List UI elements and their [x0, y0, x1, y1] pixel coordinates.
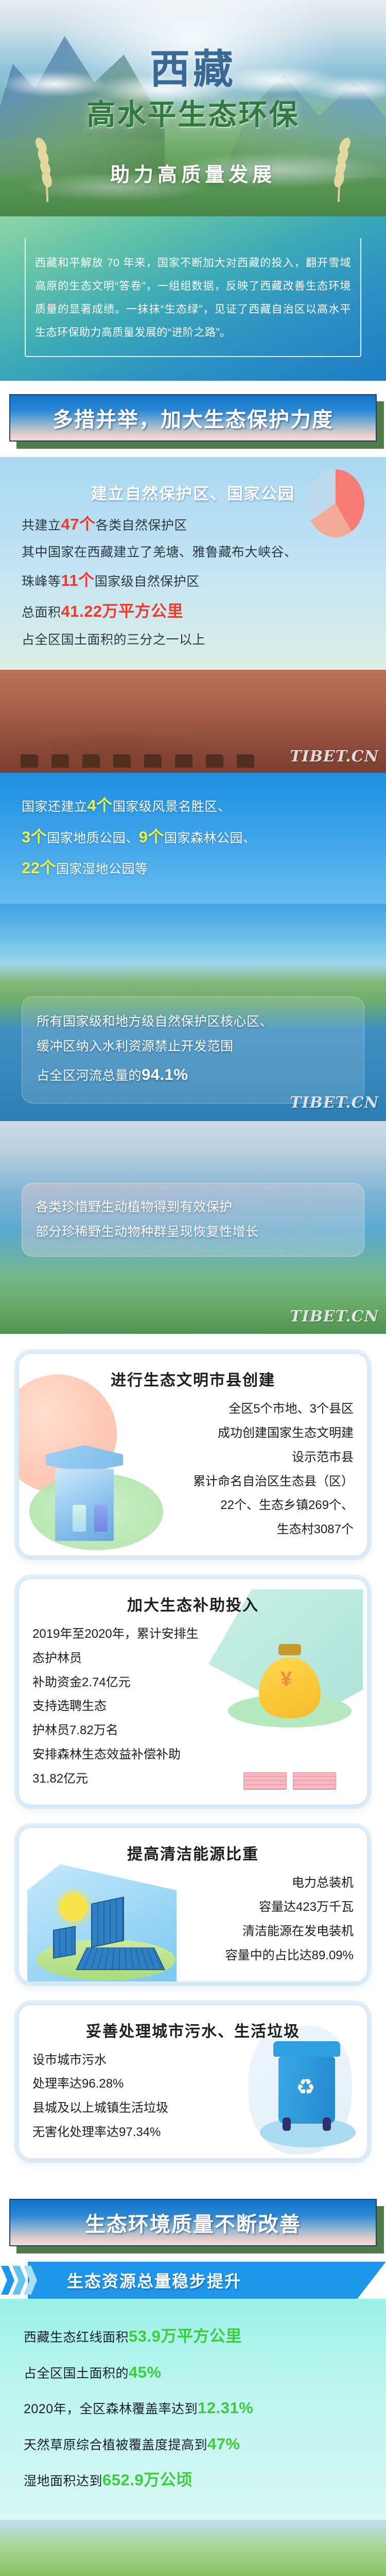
eco-res-line-3: 2020年，全区森林覆盖率达到12.31% [24, 2390, 362, 2426]
eco-res-l5-num: 652.9万公顷 [102, 2471, 192, 2489]
eco-res-l1-pre: 西藏生态红线面积 [24, 2330, 129, 2345]
parks-line-3: 22个国家湿地公园等 [22, 853, 364, 884]
card-line: 全区5个市地、3个县区 [179, 1397, 354, 1421]
rivers-card: 所有国家级和地方级自然保护区核心区、 缓冲区纳入水利资源禁止开发范围 占全区河流… [22, 996, 364, 1104]
intro-paragraph: 西藏和平解放 70 年来，国家不断加大对西藏的投入，翻开雪域高原的生态文明“答卷… [35, 251, 351, 345]
wildlife-line-2: 部分珍稀野生动物种群呈现恢复性增长 [36, 1219, 350, 1245]
reserves-l3-post: 国家级自然保护区 [95, 574, 200, 589]
reserves-l3-num: 11个 [61, 571, 95, 589]
infographic-page: 西藏 高水平生态环保 助力高质量发展 西藏和平解放 70 年来，国家不断加大对西… [0, 0, 386, 2576]
card-line: 累计命名自治区生态县（区） [179, 1470, 354, 1494]
reserves-line-3: 珠峰等11个国家级自然保护区 [22, 565, 364, 596]
sub-banner-label: 生态资源总量稳步提升 [67, 2262, 242, 2299]
card-line: 设市城市污水 [32, 2048, 207, 2073]
section1-banner-wrap: 多措并举，加大生态保护力度 [0, 381, 386, 457]
eco-res-l2-pre: 占全区国土面积的 [24, 2366, 129, 2381]
kiang-icon [144, 754, 162, 768]
wildlife-band: 各类珍惜野生动植物得到有效保护 部分珍稀野生动物种群呈现恢复性增长 TIBET.… [0, 1121, 386, 1334]
sub-banner-eco-resources: 生态资源总量稳步提升 [0, 2262, 386, 2299]
parks-l1-post: 国家级风景名胜区、 [113, 800, 231, 814]
wildlife-stats: 各类珍惜野生动植物得到有效保护 部分珍稀野生动物种群呈现恢复性增长 [36, 1195, 350, 1245]
reserves-line-1: 共建立47个各类自然保护区 [22, 509, 364, 540]
eco-res-l2-num: 45% [129, 2363, 162, 2381]
card-title: 妥善处理城市污水、生活垃圾 [19, 2005, 367, 2048]
section1-banner: 多措并举，加大生态保护力度 [9, 394, 377, 442]
card-line: 补助资金2.74亿元 [32, 1671, 207, 1695]
eco-res-l4-num: 47% [207, 2435, 240, 2453]
watermark: TIBET.CN [290, 748, 379, 766]
reserves-band: 建立自然保护区、国家公园 共建立47个各类自然保护区 其中国家在西藏建立了羌塘、… [0, 457, 386, 670]
rivers-line-3: 占全区河流总量的94.1% [37, 1059, 349, 1090]
card-line: 处理率达96.28% [32, 2072, 207, 2096]
village-photo-band: TIBET.CN [0, 2520, 386, 2576]
national-parks-stats: 国家还建立4个国家级风景名胜区、 3个国家地质公园、9个国家森林公园、 22个国… [22, 790, 364, 884]
reserves-l3-pre: 珠峰等 [22, 574, 61, 589]
card-eco-subsidy: ¥ 加大生态补助投入 2019年至2020年，累计安排生态护林员 补助资金2.7… [17, 1578, 369, 1806]
card-line: 支持选聘生态 [32, 1694, 207, 1719]
rivers-line-1: 所有国家级和地方级自然保护区核心区、 [37, 1009, 349, 1035]
card-body: 全区5个市地、3个县区 成功创建国家生态文明建 设示范市县 累计命名自治区生态县… [19, 1397, 367, 1555]
reserves-l1-pre: 共建立 [22, 518, 61, 533]
card-line: 县城及以上城镇生活垃圾 [32, 2096, 207, 2121]
card-line: 护林员7.82万名 [32, 1719, 207, 1743]
rivers-l3-pre: 占全区河流总量的 [37, 1069, 142, 1083]
hero-subtitle: 高水平生态环保 [0, 92, 386, 133]
parks-l3-post: 国家湿地公园等 [56, 862, 148, 876]
kiang-icon [82, 754, 100, 768]
card-line: 成功创建国家生态文明建 [179, 1421, 354, 1446]
parks-l1-num: 4个 [87, 796, 113, 815]
chevron-right-icon [1, 2266, 14, 2295]
watermark: TIBET.CN [290, 1094, 379, 1112]
card-line: 设示范市县 [179, 1446, 354, 1470]
kiang-icon [113, 754, 131, 768]
eco-res-l3-pre: 2020年，全区森林覆盖率达到 [24, 2402, 198, 2416]
eco-res-l3-num: 12.31% [198, 2399, 253, 2417]
wildlife-line-1: 各类珍惜野生动植物得到有效保护 [36, 1195, 350, 1220]
eco-res-line-1: 西藏生态红线面积53.9万平方公里 [24, 2318, 362, 2354]
rivers-stats: 所有国家级和地方级自然保护区核心区、 缓冲区纳入水利资源禁止开发范围 占全区河流… [37, 1009, 349, 1091]
eco-res-l4-pre: 天然草原综合植被覆盖度提高到 [24, 2438, 207, 2452]
hero-title: 西藏 [0, 37, 386, 95]
card-line: 电力总装机 [179, 1871, 354, 1895]
eco-res-line-2: 占全区国土面积的45% [24, 2354, 362, 2391]
reserves-l1-post: 各类自然保护区 [96, 518, 188, 533]
reserves-l1-num: 47个 [61, 515, 96, 533]
card-line: 22个、生态乡镇269个、 [179, 1494, 354, 1518]
rivers-line-2: 缓冲区纳入水利资源禁止开发范围 [37, 1034, 349, 1059]
reserves-stats: 共建立47个各类自然保护区 其中国家在西藏建立了羌塘、雅鲁藏布大峡谷、 珠峰等1… [22, 509, 364, 653]
eco-resources-stats: 西藏生态红线面积53.9万平方公里 占全区国土面积的45% 2020年，全区森林… [24, 2318, 362, 2498]
reserves-line-4: 总面积41.22万平方公里 [22, 596, 364, 627]
parks-line-2: 3个国家地质公园、9个国家森林公园、 [22, 822, 364, 853]
reserves-l4-pre: 总面积 [22, 605, 61, 620]
intro-frame: 西藏和平解放 70 年来，国家不断加大对西藏的投入，翻开雪域高原的生态文明“答卷… [25, 238, 361, 357]
card-title: 加大生态补助投入 [19, 1579, 367, 1622]
eco-res-line-4: 天然草原综合植被覆盖度提高到47% [24, 2426, 362, 2462]
kiang-icon [206, 754, 223, 768]
eco-resources-band: 西藏生态红线面积53.9万平方公里 占全区国土面积的45% 2020年，全区森林… [0, 2299, 386, 2520]
rivers-l3-num: 94.1% [142, 1065, 188, 1083]
eco-res-line-5: 湿地面积达到652.9万公顷 [24, 2462, 362, 2498]
card-line: 生态村3087个 [179, 1518, 354, 1542]
card-waste-treatment: ♻ 妥善处理城市污水、生活垃圾 设市城市污水 处理率达96.28% 县城及以上城… [17, 2004, 369, 2160]
eco-res-l5-pre: 湿地面积达到 [24, 2474, 102, 2488]
watermark: TIBET.CN [290, 1308, 379, 1326]
card-body: 设市城市污水 处理率达96.28% 县城及以上城镇生活垃圾 无害化处理率达97.… [19, 2048, 367, 2158]
section2-banner-wrap: 生态环境质量不断改善 [0, 2185, 386, 2262]
eco-res-l1-num: 53.9万平方公里 [129, 2327, 242, 2345]
card-line: 清洁能源在发电装机 [179, 1920, 354, 1944]
card-body: 2019年至2020年，累计安排生态护林员 补助资金2.74亿元 支持选聘生态 … [19, 1622, 367, 1805]
kiang-photo-band: TIBET.CN [0, 670, 386, 773]
card-title: 提高清洁能源比重 [19, 1828, 367, 1871]
parks-l2-t2: 国家森林公园、 [164, 831, 256, 845]
card-clean-energy: 提高清洁能源比重 电力总装机 容量达423万千瓦 清洁能源在发电装机 容量中的占… [17, 1826, 369, 1982]
card-line: 容量中的占比达89.09% [179, 1944, 354, 1968]
wildlife-card: 各类珍惜野生动植物得到有效保护 部分珍稀野生动物种群呈现恢复性增长 [22, 1183, 364, 1257]
rivers-band: 所有国家级和地方级自然保护区核心区、 缓冲区纳入水利资源禁止开发范围 占全区河流… [0, 904, 386, 1121]
card-title: 进行生态文明市县创建 [19, 1354, 367, 1397]
card-line: 安排森林生态效益补偿补助31.82亿元 [32, 1743, 207, 1791]
card-line: 容量达423万千瓦 [179, 1895, 354, 1920]
national-parks-band: 国家还建立4个国家级风景名胜区、 3个国家地质公园、9个国家森林公园、 22个国… [0, 773, 386, 903]
parks-line-1: 国家还建立4个国家级风景名胜区、 [22, 790, 364, 821]
hero-banner: 西藏 高水平生态环保 助力高质量发展 [0, 0, 386, 216]
card-line: 2019年至2020年，累计安排生态护林员 [32, 1622, 207, 1671]
kiang-icon [21, 754, 38, 768]
reserves-line-2: 其中国家在西藏建立了羌塘、雅鲁藏布大峡谷、 [22, 540, 364, 565]
hero-tagline: 助力高质量发展 [0, 159, 386, 187]
reserves-line-5: 占全区国土面积的三分之一以上 [22, 628, 364, 653]
parks-l3-num: 22个 [22, 859, 56, 877]
card-line: 无害化处理率达97.34% [32, 2121, 207, 2145]
info-cards: 进行生态文明市县创建 全区5个市地、3个县区 成功创建国家生态文明建 设示范市县… [0, 1334, 386, 2185]
section2-banner: 生态环境质量不断改善 [9, 2199, 377, 2246]
reserves-l4-num: 41.22万平方公里 [61, 602, 184, 620]
parks-l2-t1: 国家地质公园、 [47, 831, 139, 845]
parks-l2-n1: 3个 [22, 828, 47, 846]
parks-l1-pre: 国家还建立 [22, 800, 87, 814]
kiang-icon [175, 754, 192, 768]
section1-banner-label: 多措并举，加大生态保护力度 [52, 403, 334, 433]
parks-l2-n2: 9个 [139, 828, 164, 846]
card-body: 电力总装机 容量达423万千瓦 清洁能源在发电装机 容量中的占比达89.09% [19, 1871, 367, 1981]
intro-section: 西藏和平解放 70 年来，国家不断加大对西藏的投入，翻开雪域高原的生态文明“答卷… [0, 216, 386, 381]
kiang-icon [237, 754, 254, 768]
section2-banner-label: 生态环境质量不断改善 [85, 2208, 301, 2238]
kiang-icon [51, 754, 69, 768]
card-eco-civilization: 进行生态文明市县创建 全区5个市地、3个县区 成功创建国家生态文明建 设示范市县… [17, 1352, 369, 1557]
